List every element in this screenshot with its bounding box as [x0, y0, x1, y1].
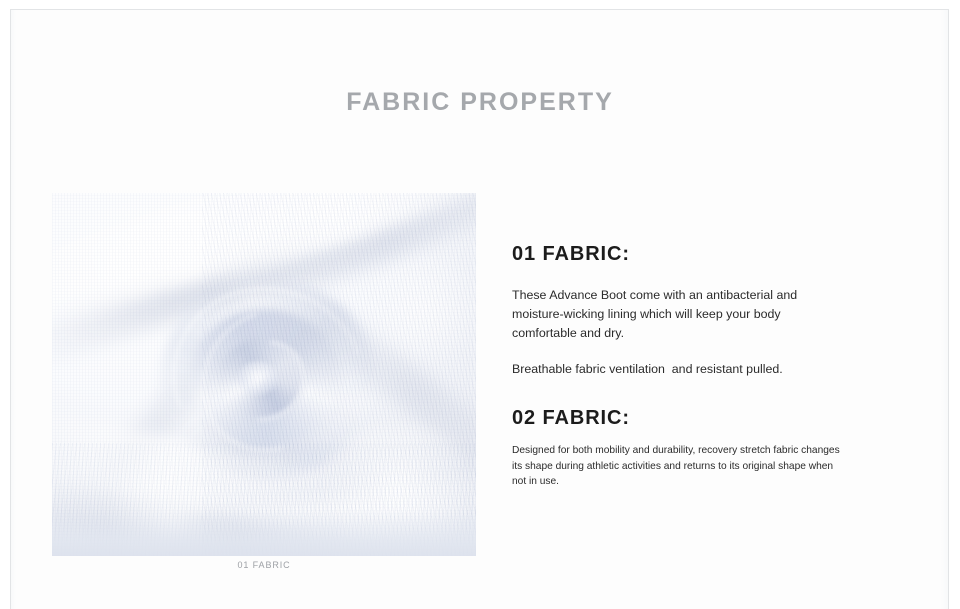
fabric-block-heading-01: 01 FABRIC:: [512, 243, 842, 265]
fabric-photo: [52, 193, 476, 556]
fabric-copy-column: 01 FABRIC: These Advance Boot come with …: [512, 243, 842, 490]
page-frame: FABRIC PROPERTY: [0, 0, 960, 585]
fabric-block-paragraph-02a: Designed for both mobility and durabilit…: [512, 443, 842, 490]
spacer: [512, 379, 842, 407]
fabric-block-heading-02: 02 FABRIC:: [512, 407, 842, 429]
spacer: [512, 265, 842, 286]
fabric-block-paragraph-01a: These Advance Boot come with an antibact…: [512, 286, 842, 343]
spacer: [512, 429, 842, 443]
fabric-photo-caption: 01 FABRIC: [52, 560, 476, 570]
fabric-block-paragraph-01b: Breathable fabric ventilation and resist…: [512, 360, 842, 379]
photo-bottom-band: [52, 510, 476, 556]
fabric-photo-canvas: [52, 193, 476, 556]
page-title: FABRIC PROPERTY: [0, 88, 960, 117]
spacer: [512, 343, 842, 360]
